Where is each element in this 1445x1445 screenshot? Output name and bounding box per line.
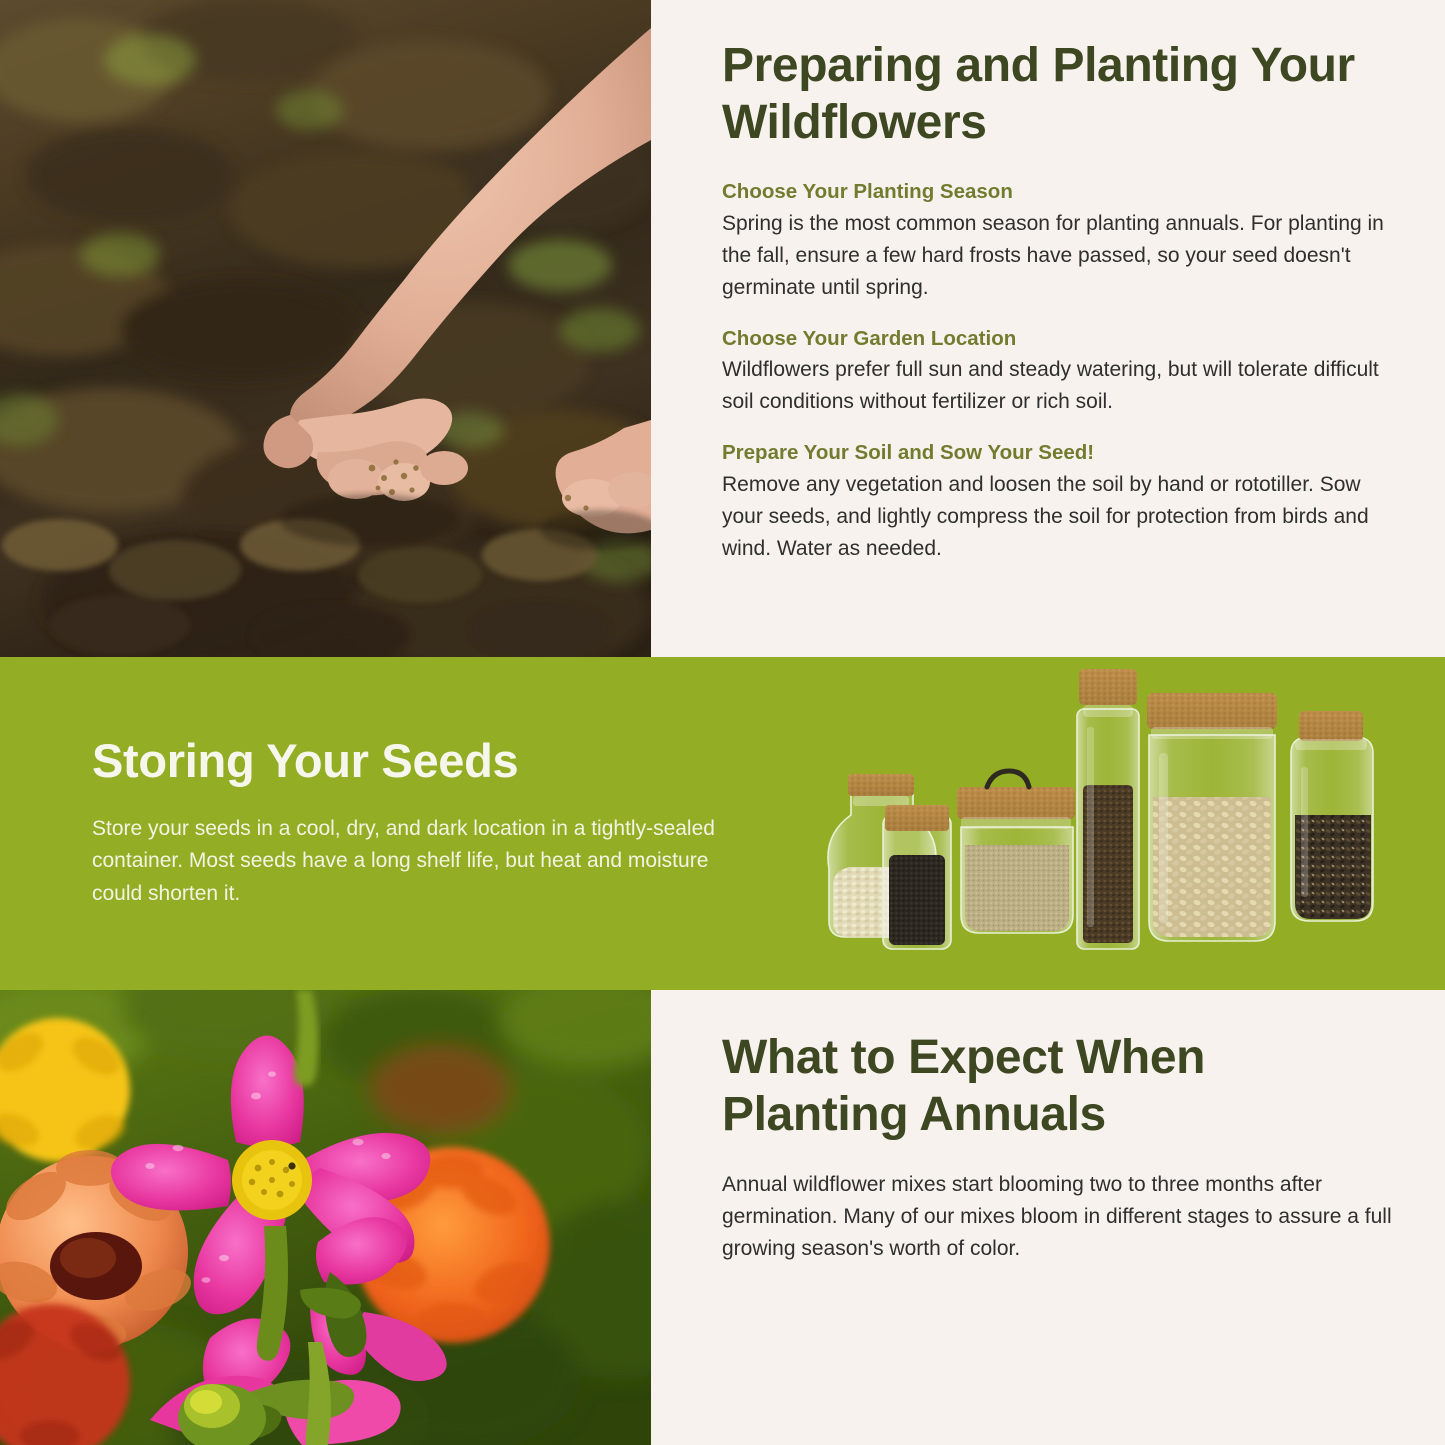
expect-title: What to Expect When Planting Annuals: [722, 1030, 1394, 1143]
section-storing-your-seeds: Storing Your Seeds Store your seeds in a…: [0, 657, 1445, 990]
expect-text-block: What to Expect When Planting Annuals Ann…: [722, 1030, 1394, 1265]
section-what-to-expect: What to Expect When Planting Annuals Ann…: [0, 990, 1445, 1445]
expect-body: Annual wildflower mixes start blooming t…: [722, 1169, 1394, 1265]
body-choose-planting-season: Spring is the most common season for pla…: [722, 208, 1394, 304]
prep-section-garden-location: Choose Your Garden Location Wildflowers …: [722, 324, 1394, 419]
subheading-prepare-soil-sow-seed: Prepare Your Soil and Sow Your Seed!: [722, 438, 1394, 468]
storing-text-block: Storing Your Seeds Store your seeds in a…: [92, 735, 717, 910]
prep-section-planting-season: Choose Your Planting Season Spring is th…: [722, 177, 1394, 303]
pink-cosmos-and-zinnia-flowers-photo: [0, 990, 651, 1445]
body-prepare-soil-sow-seed: Remove any vegetation and loosen the soi…: [722, 469, 1394, 565]
infographic-page: Preparing and Planting Your Wildflowers …: [0, 0, 1445, 1445]
glass-jars-of-seeds-photo: [815, 657, 1415, 990]
hand-sowing-seeds-in-soil-photo: [0, 0, 651, 657]
body-choose-garden-location: Wildflowers prefer full sun and steady w…: [722, 354, 1394, 418]
subheading-choose-planting-season: Choose Your Planting Season: [722, 177, 1394, 207]
section-preparing-and-planting: Preparing and Planting Your Wildflowers …: [0, 0, 1445, 657]
storing-title: Storing Your Seeds: [92, 735, 717, 787]
prep-section-prepare-soil: Prepare Your Soil and Sow Your Seed! Rem…: [722, 438, 1394, 564]
storing-body: Store your seeds in a cool, dry, and dar…: [92, 813, 717, 911]
subheading-choose-garden-location: Choose Your Garden Location: [722, 324, 1394, 354]
preparing-text-block: Preparing and Planting Your Wildflowers …: [722, 38, 1394, 565]
page-title: Preparing and Planting Your Wildflowers: [722, 38, 1394, 151]
